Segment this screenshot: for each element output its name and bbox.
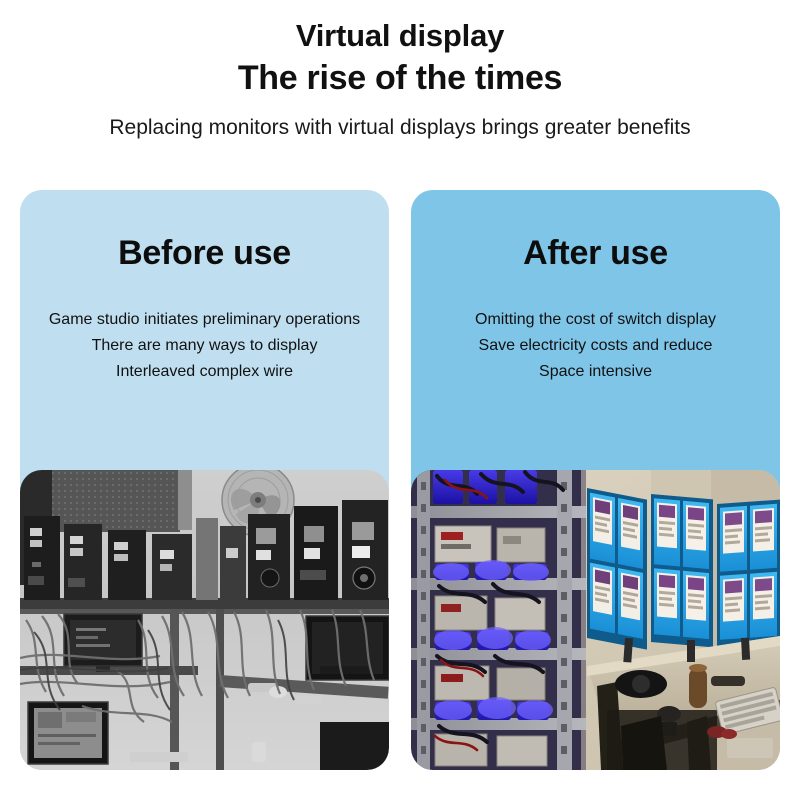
panel-before-line-3: Interleaved complex wire xyxy=(20,359,389,385)
panel-before-heading: Before use xyxy=(20,234,389,273)
comparison-panels: Before use Game studio initiates prelimi… xyxy=(20,190,780,770)
panel-after-use: After use Omitting the cost of switch di… xyxy=(411,190,780,770)
panel-after-lines: Omitting the cost of switch display Save… xyxy=(411,307,780,385)
panel-before-line-2: There are many ways to display xyxy=(20,333,389,359)
panel-after-line-3: Space intensive xyxy=(411,359,780,385)
page-header: Virtual display The rise of the times Re… xyxy=(0,0,800,142)
page-title-line-2: The rise of the times xyxy=(0,56,800,100)
panel-after-heading: After use xyxy=(411,234,780,273)
grayscale-server-room-photo xyxy=(20,470,389,770)
panel-after-line-2: Save electricity costs and reduce xyxy=(411,333,780,359)
panel-before-lines: Game studio initiates preliminary operat… xyxy=(20,307,389,385)
panel-before-line-1: Game studio initiates preliminary operat… xyxy=(20,307,389,333)
panel-before-use: Before use Game studio initiates prelimi… xyxy=(20,190,389,770)
panel-after-line-1: Omitting the cost of switch display xyxy=(411,307,780,333)
page-subtitle: Replacing monitors with virtual displays… xyxy=(0,114,800,142)
page-title-line-1: Virtual display xyxy=(0,16,800,56)
color-mining-rig-photo xyxy=(411,470,780,770)
